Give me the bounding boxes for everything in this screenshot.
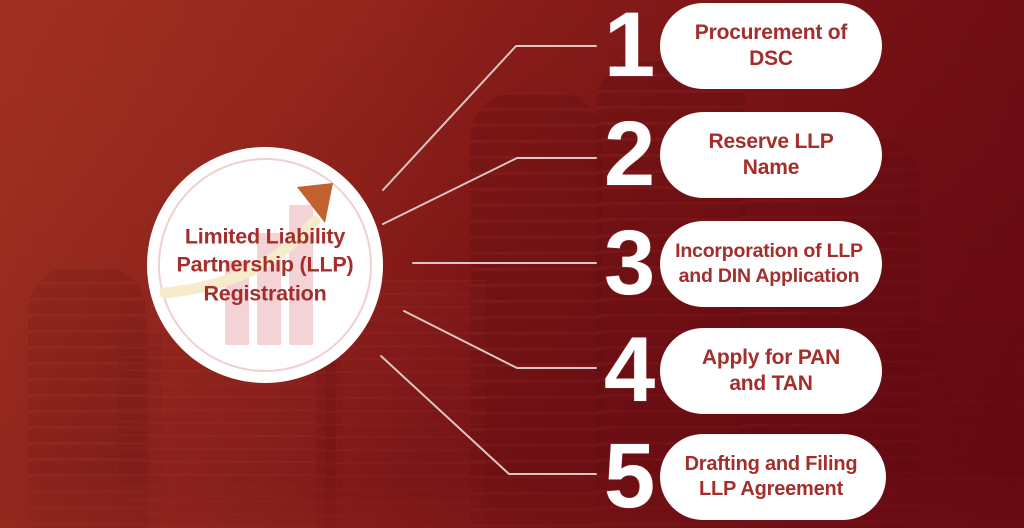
step-item-4[interactable]: 4 Apply for PAN and TAN (604, 328, 882, 414)
step-number-1: 1 (604, 10, 666, 82)
step-item-5[interactable]: 5 Drafting and Filing LLP Agreement (604, 434, 886, 520)
connector-line-1 (383, 46, 596, 190)
step-number-4: 4 (604, 335, 666, 407)
step-number-3: 3 (604, 228, 666, 300)
step-pill-3[interactable]: Incorporation of LLP and DIN Application (660, 221, 882, 307)
step-label-3: Incorporation of LLP and DIN Application (668, 239, 870, 288)
step-label-4: Apply for PAN and TAN (702, 345, 840, 398)
step-item-2[interactable]: 2 Reserve LLP Name (604, 112, 882, 198)
hub-title-line-1: Limited Liability (155, 222, 375, 250)
hub-title-line-2: Partnership (LLP) (155, 251, 375, 279)
infographic-canvas: Limited Liability Partnership (LLP) Regi… (0, 0, 1024, 528)
step-number-5: 5 (604, 441, 666, 513)
step-label-2: Reserve LLP Name (708, 129, 833, 182)
step-pill-5[interactable]: Drafting and Filing LLP Agreement (660, 434, 886, 520)
step-pill-2[interactable]: Reserve LLP Name (660, 112, 882, 198)
step-item-1[interactable]: 1 Procurement of DSC (604, 3, 882, 89)
hub-circle: Limited Liability Partnership (LLP) Regi… (147, 147, 383, 383)
step-item-3[interactable]: 3 Incorporation of LLP and DIN Applicati… (604, 221, 882, 307)
step-pill-1[interactable]: Procurement of DSC (660, 3, 882, 89)
step-label-1: Procurement of DSC (695, 20, 847, 73)
connector-line-4 (404, 311, 596, 368)
step-pill-4[interactable]: Apply for PAN and TAN (660, 328, 882, 414)
hub-title-line-3: Registration (155, 279, 375, 307)
step-label-5: Drafting and Filing LLP Agreement (668, 452, 874, 502)
step-number-2: 2 (604, 119, 666, 191)
connector-line-2 (383, 158, 596, 224)
hub-title: Limited Liability Partnership (LLP) Regi… (147, 222, 383, 307)
connector-line-5 (381, 356, 596, 474)
